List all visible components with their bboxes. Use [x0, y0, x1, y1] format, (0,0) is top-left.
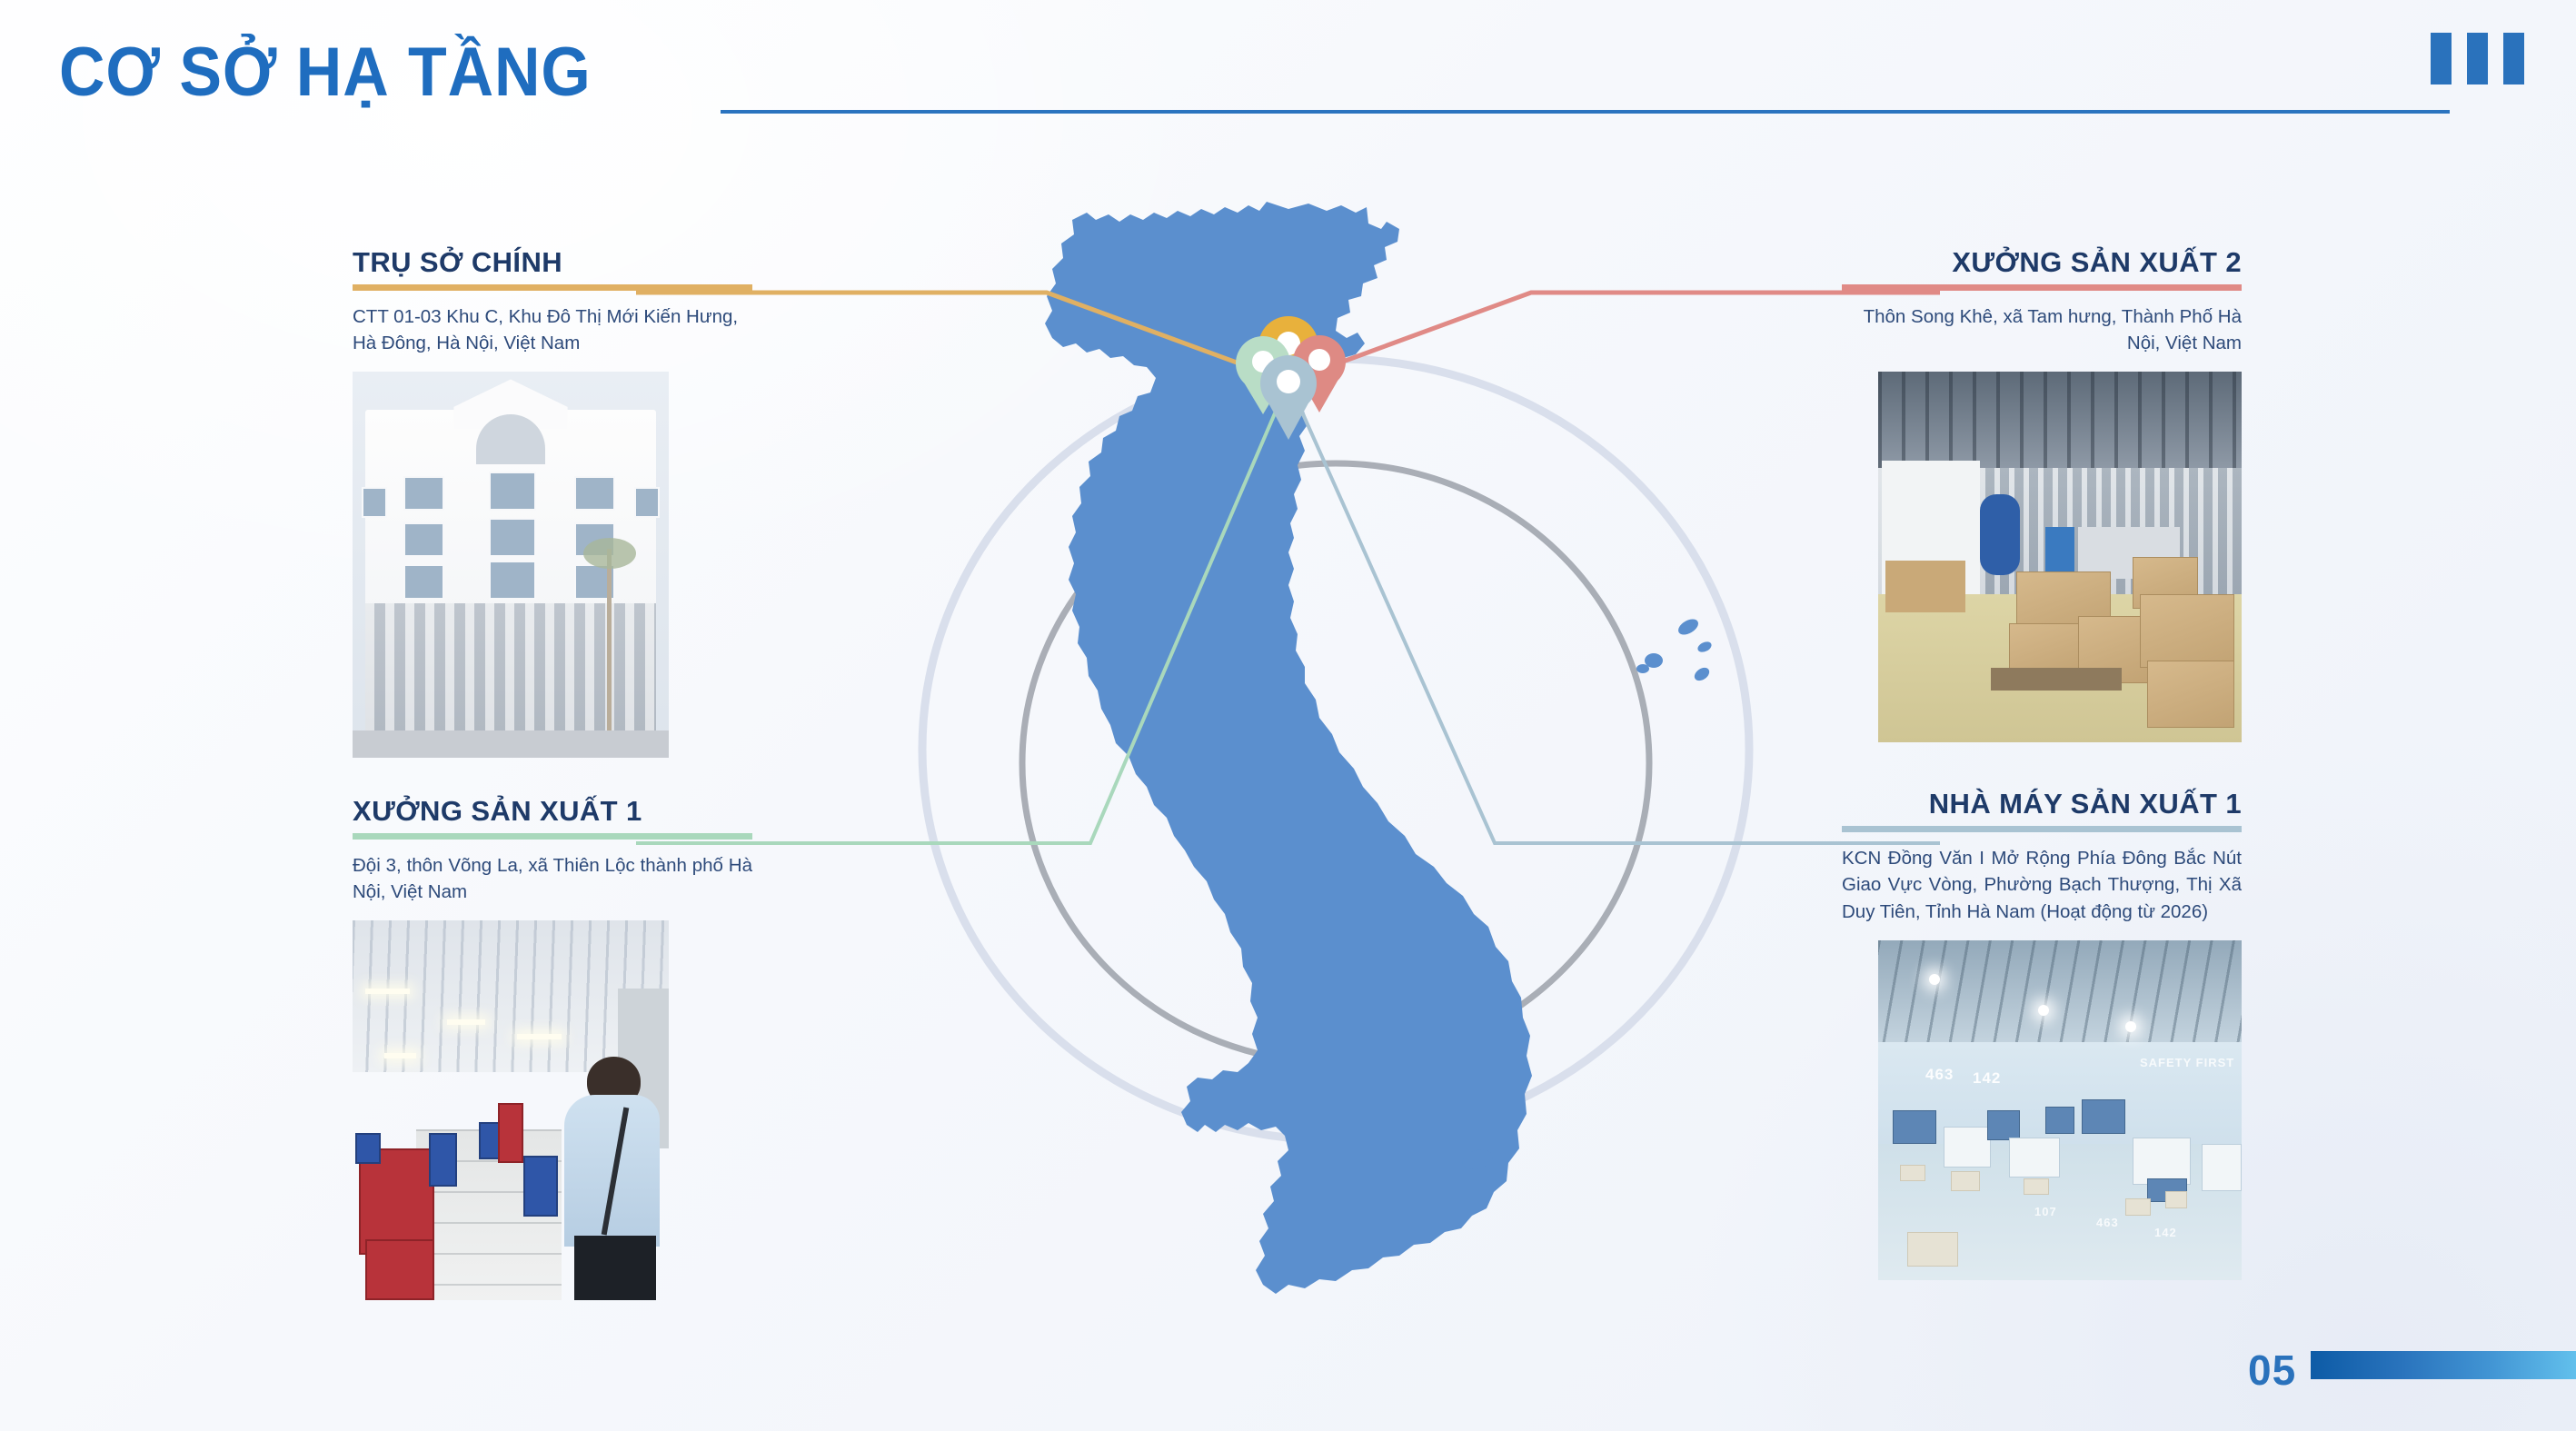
location-address: CTT 01-03 Khu C, Khu Đô Thị Mới Kiến Hưn…	[353, 303, 752, 357]
vietnam-map-shape	[1045, 202, 1532, 1294]
slide-root: CƠ SỞ HẠ TẦNG	[0, 0, 2576, 1431]
location-photo-workshop-1	[353, 920, 669, 1300]
map-pin-gold	[1258, 316, 1319, 400]
location-address: KCN Đồng Văn I Mở Rộng Phía Đông Bắc Nút…	[1842, 845, 2242, 926]
location-block-workshop-2: XƯỞNG SẢN XUẤT 2 Thôn Song Khê, xã Tam h…	[1842, 248, 2242, 742]
three-bars-icon	[2431, 33, 2524, 84]
map-pin-steel	[1260, 355, 1317, 440]
location-accent-rule	[1842, 826, 2242, 832]
location-heading: NHÀ MÁY SẢN XUẤT 1	[1842, 790, 2242, 820]
location-block-workshop-1: XƯỞNG SẢN XUẤT 1 Đội 3, thôn Võng La, xã…	[353, 797, 752, 1300]
location-block-headquarters: TRỤ SỞ CHÍNH CTT 01-03 Khu C, Khu Đô Thị…	[353, 248, 752, 758]
location-heading: XƯỞNG SẢN XUẤT 2	[1842, 248, 2242, 278]
map-pin-salmon	[1293, 335, 1346, 412]
factory-aisle-label-a: 463	[1925, 1066, 1954, 1084]
location-photo-headquarters	[353, 372, 669, 758]
page-title: CƠ SỞ HẠ TẦNG	[59, 33, 592, 112]
map-pin-cluster	[1236, 316, 1346, 440]
factory-floor-label-b: 142	[2154, 1226, 2177, 1239]
factory-safety-sign: SAFETY FIRST	[2140, 1056, 2234, 1069]
page-number-gradient-bar	[2311, 1351, 2576, 1379]
location-heading: XƯỞNG SẢN XUẤT 1	[353, 797, 752, 827]
inner-decorative-circle	[1022, 463, 1649, 1063]
location-accent-rule	[353, 284, 752, 291]
location-address: Đội 3, thôn Võng La, xã Thiên Lộc thành …	[353, 852, 752, 906]
factory-floor-label-c: 107	[2034, 1205, 2057, 1218]
location-address: Thôn Song Khê, xã Tam hưng, Thành Phố Hà…	[1842, 303, 2242, 357]
title-underline-rule	[721, 110, 2450, 114]
location-heading: TRỤ SỞ CHÍNH	[353, 248, 752, 278]
page-number: 05	[2248, 1346, 2296, 1395]
factory-floor-label-a: 463	[2096, 1216, 2119, 1229]
island-dots	[1460, 616, 1713, 1172]
factory-aisle-label-b: 142	[1973, 1069, 2001, 1088]
location-photo-workshop-2	[1878, 372, 2242, 742]
location-accent-rule	[1842, 284, 2242, 291]
location-accent-rule	[353, 833, 752, 840]
location-photo-plant-1: 463 142 SAFETY FIRST 107 463 142	[1878, 940, 2242, 1280]
map-pin-green	[1236, 336, 1290, 414]
outer-decorative-circle	[922, 359, 1749, 1140]
location-block-plant-1: NHÀ MÁY SẢN XUẤT 1 KCN Đồng Văn I Mở Rộn…	[1842, 790, 2242, 1280]
